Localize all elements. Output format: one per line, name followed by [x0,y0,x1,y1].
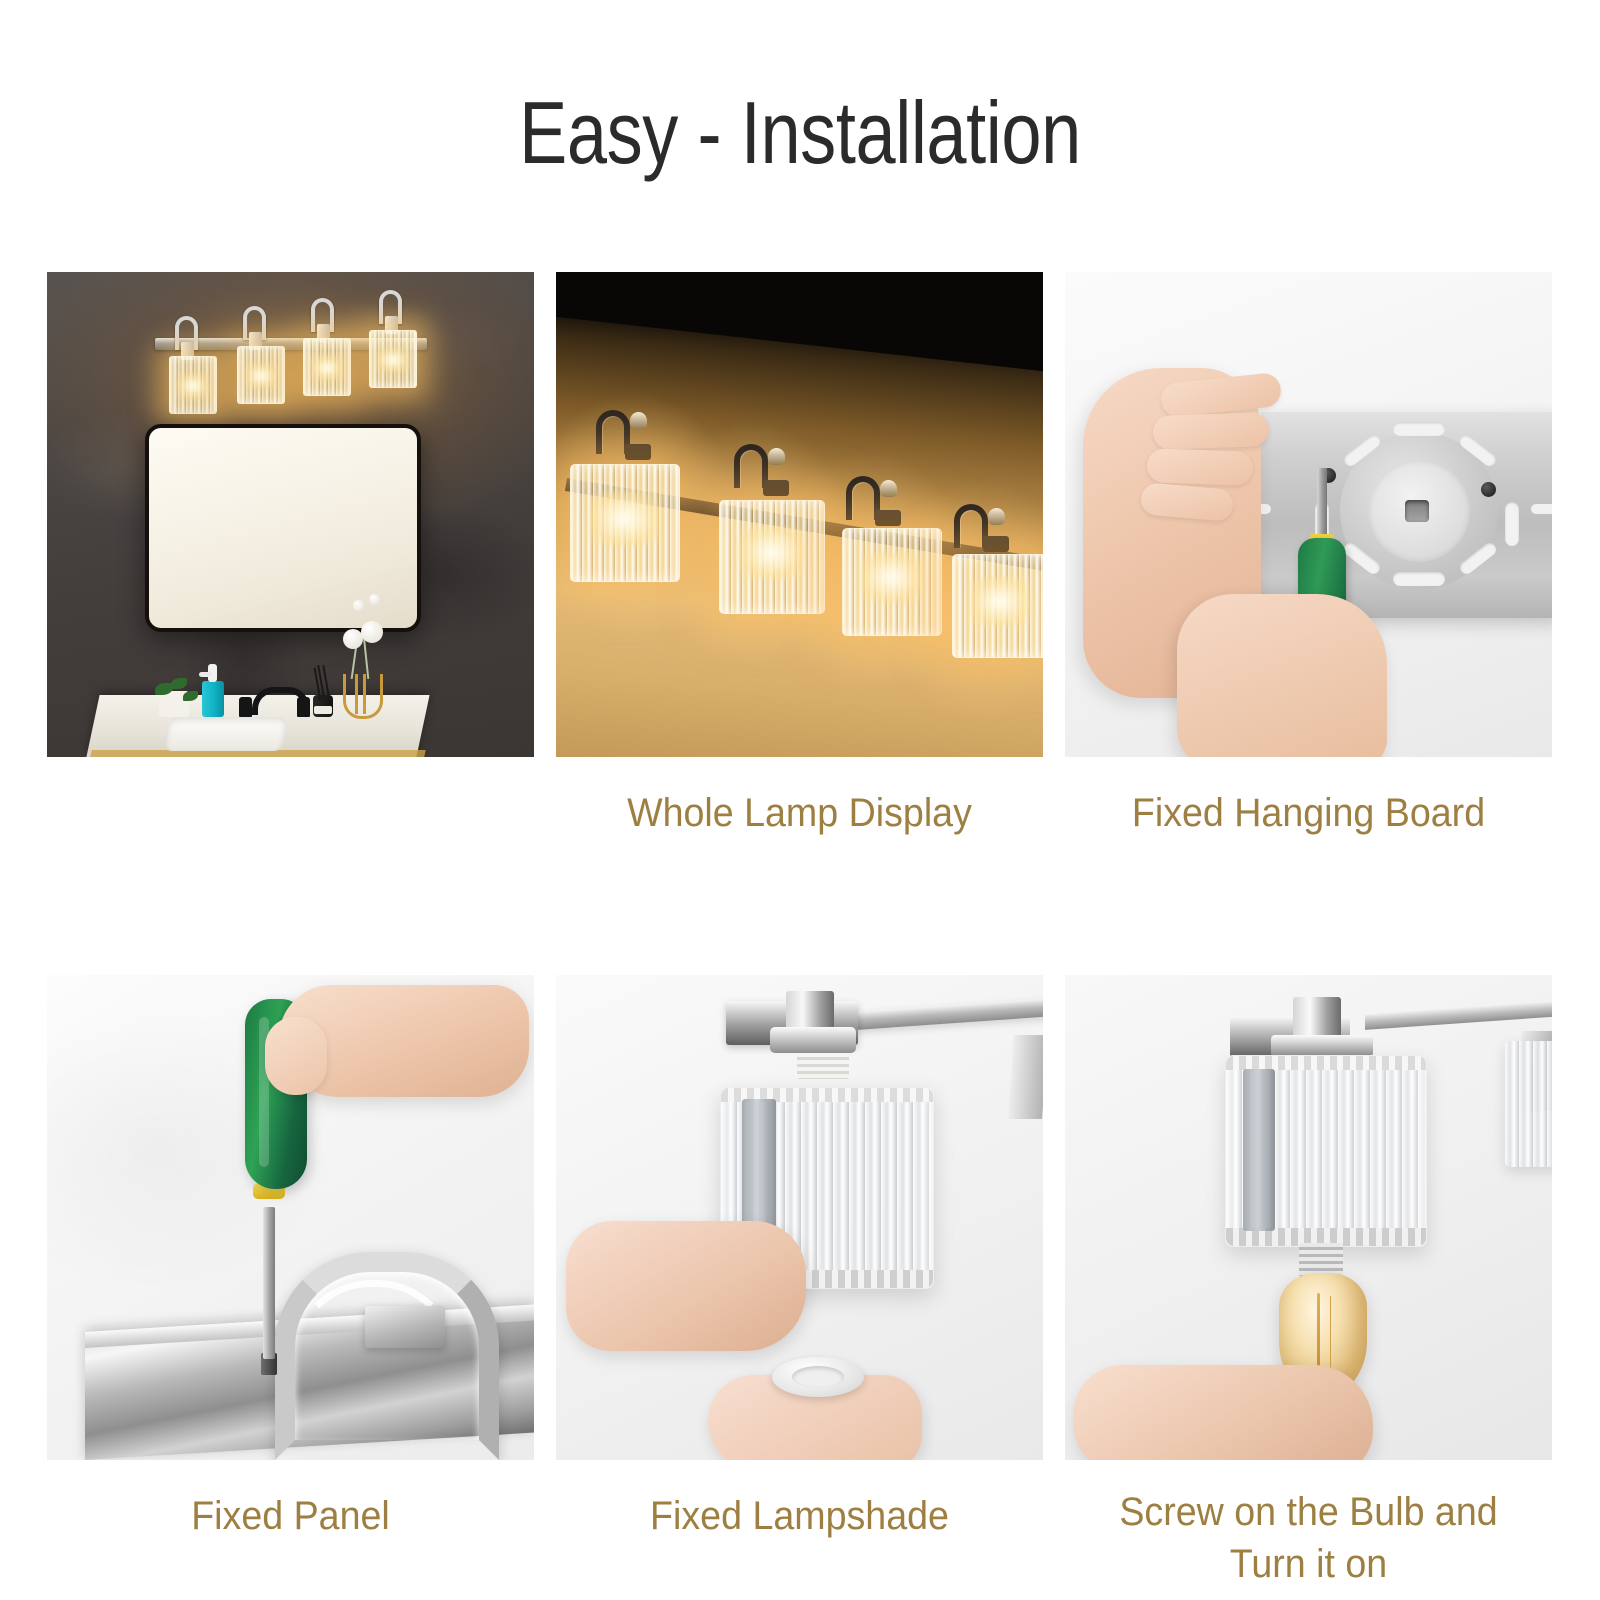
crystal-shade-4 [369,330,417,388]
screwdriver-shaft-long [263,1207,275,1359]
adjacent-crystal-shade [1505,1041,1552,1167]
plate-keyhole-right [1531,504,1552,514]
caption-line-1: Screw on the Bulb and [1080,1486,1538,1538]
sink-basin [164,717,288,751]
gold-wire-vase [343,674,383,719]
ring-finger [1146,448,1253,486]
photo-fixed-lampshade [556,975,1043,1460]
chrome-rail-right [1365,1000,1552,1030]
lamp-socket-2 [763,480,789,496]
reed-diffuser [313,695,333,717]
center-mounting-hole [1405,500,1429,522]
infographic-page: Easy - Installation [0,0,1600,1600]
flower-bloom-4 [369,594,380,605]
caption-whole-lamp-display: Whole Lamp Display [571,787,1029,839]
caption-fixed-hanging-board: Fixed Hanging Board [1080,787,1538,839]
plate-slot-right-arc [1505,502,1519,546]
chrome-rail [856,998,1043,1030]
retaining-ring [772,1357,864,1397]
lamp-finial-2 [768,448,785,465]
lamp-socket-3 [875,510,901,526]
threaded-socket [797,1053,849,1079]
socket-collar-right [1271,1035,1373,1057]
lit-crystal-shade-1 [570,464,680,582]
lit-crystal-shade-4 [952,554,1043,658]
caption-fixed-lampshade: Fixed Lampshade [571,1490,1029,1542]
lamp-socket-4 [983,536,1009,552]
middle-finger [1152,412,1269,450]
photo-lifestyle-vanity [47,272,534,757]
bulb-filament [1317,1293,1320,1367]
crystal-shade-1 [169,356,217,414]
lamp-socket-1 [625,444,651,460]
thumb [265,1017,327,1095]
soap-dispenser [202,681,224,717]
step-cell-fixed-lampshade: Fixed Lampshade [556,975,1043,1590]
bulb-screw-base [1299,1243,1343,1277]
faucet-handle-left [239,697,252,717]
countertop-edge [90,750,425,757]
caption-screw-on-bulb: Screw on the Bulb and Turn it on [1080,1486,1538,1590]
lamp-finial-4 [988,508,1005,525]
lamp-finial-3 [880,480,897,497]
step-cell-fixed-hanging-board: Fixed Hanging Board [1065,272,1552,839]
flower-bloom-2 [361,621,383,643]
photo-fixed-hanging-board [1065,272,1552,757]
crystal-shade-3 [303,338,351,396]
shade-mirror-facet-right [1243,1069,1275,1231]
plate-slot-bottom [1393,572,1445,586]
chrome-arm-highlight [291,1280,457,1434]
steps-grid: Whole Lamp Display [47,272,1553,1590]
lit-crystal-shade-2 [719,500,825,614]
hand-holding-shade [566,1221,806,1351]
flower-bloom-1 [343,629,363,649]
lit-crystal-shade-3 [842,528,942,636]
caption-line-2: Turn it on [1080,1538,1538,1590]
plate-slot-top [1393,422,1445,436]
hand-holding-bulb [1073,1365,1373,1460]
crystal-shade-2 [237,346,285,404]
right-hand [1177,594,1387,757]
faucet-handle-right [297,697,310,717]
chrome-mount-block [365,1306,445,1348]
page-title: Easy - Installation [144,82,1456,184]
step-cell-lifestyle-vanity [47,272,534,839]
socket-collar [770,1027,856,1053]
lamp-finial-1 [630,412,647,429]
step-cell-screw-on-bulb: Screw on the Bulb and Turn it on [1065,975,1552,1590]
step-cell-whole-lamp-display: Whole Lamp Display [556,272,1043,839]
chrome-rail-bracket [1008,1035,1043,1119]
flower-bloom-3 [353,600,364,611]
socket-stem-right [1293,997,1341,1039]
photo-screw-on-bulb [1065,975,1552,1460]
photo-whole-lamp-display [556,272,1043,757]
step-cell-fixed-panel: Fixed Panel [47,975,534,1590]
photo-fixed-panel [47,975,534,1460]
screw-head-right [1481,482,1496,497]
caption-fixed-panel: Fixed Panel [62,1490,520,1542]
